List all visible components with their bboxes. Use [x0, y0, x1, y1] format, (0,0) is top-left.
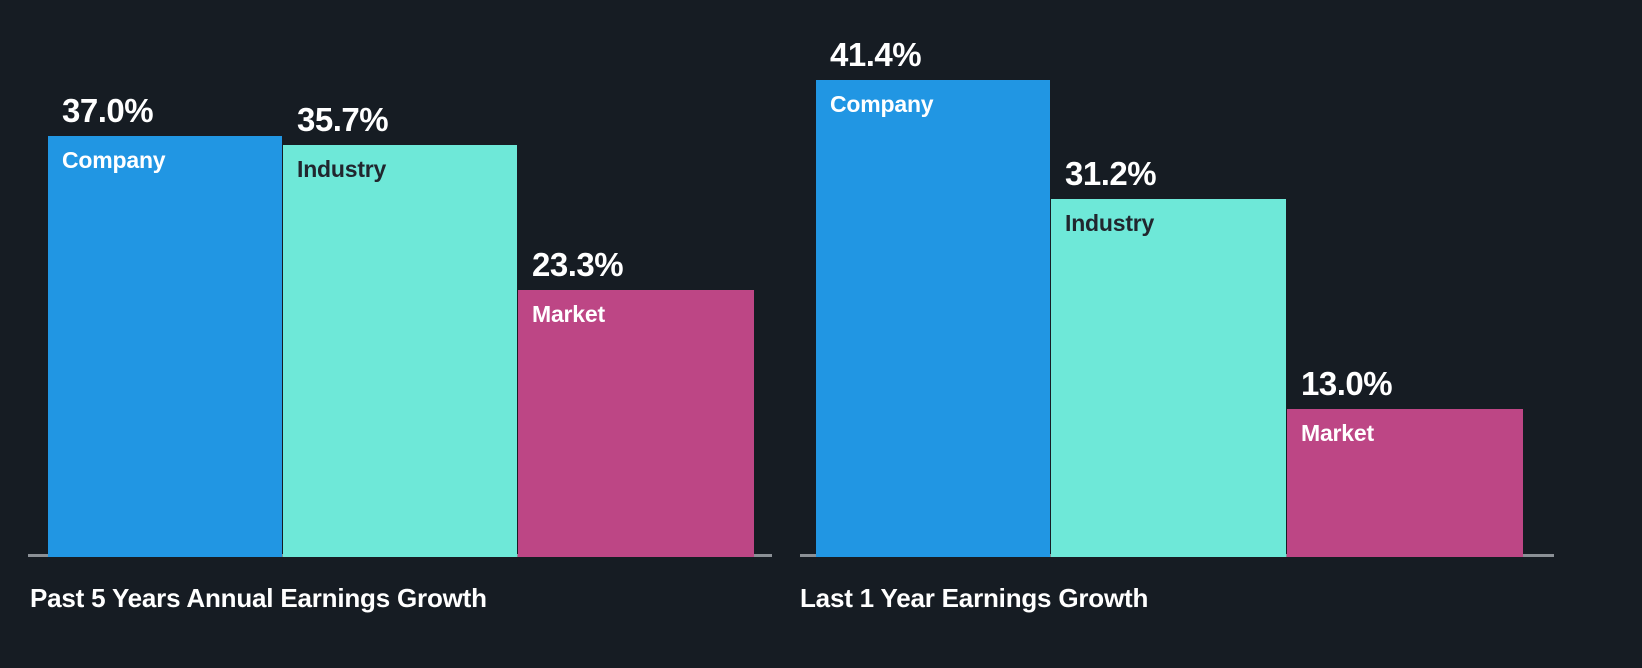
bar-category-label-industry: Industry: [297, 156, 386, 183]
chart-panel-past-5-years: 37.0% Company 35.7% Industry 23.3% Marke…: [0, 0, 790, 668]
bar-category-label-company: Company: [62, 147, 165, 174]
bar-category-label-market: Market: [532, 301, 605, 328]
bar-fill-industry: [283, 145, 517, 557]
bar-category-label-industry: Industry: [1065, 210, 1154, 237]
bar-industry-past-5-years[interactable]: 35.7% Industry: [283, 145, 517, 557]
plot-area-past-5-years: 37.0% Company 35.7% Industry 23.3% Marke…: [0, 0, 790, 557]
bar-value-label-industry: 31.2%: [1065, 155, 1156, 193]
bar-fill-industry: [1051, 199, 1286, 557]
bar-fill-company: [816, 80, 1050, 557]
plot-area-last-1-year: 41.4% Company 31.2% Industry 13.0% Marke…: [790, 0, 1642, 557]
bar-company-past-5-years[interactable]: 37.0% Company: [48, 136, 282, 557]
bar-value-label-company: 37.0%: [62, 92, 153, 130]
bar-industry-last-1-year[interactable]: 31.2% Industry: [1051, 199, 1286, 557]
bar-fill-company: [48, 136, 282, 557]
bar-fill-market: [518, 290, 754, 557]
chart-title-past-5-years: Past 5 Years Annual Earnings Growth: [30, 583, 487, 614]
bar-value-label-market: 23.3%: [532, 246, 623, 284]
chart-panel-last-1-year: 41.4% Company 31.2% Industry 13.0% Marke…: [790, 0, 1642, 668]
bar-value-label-industry: 35.7%: [297, 101, 388, 139]
bar-market-past-5-years[interactable]: 23.3% Market: [518, 290, 754, 557]
bar-value-label-company: 41.4%: [830, 36, 921, 74]
bar-market-last-1-year[interactable]: 13.0% Market: [1287, 409, 1523, 557]
bar-company-last-1-year[interactable]: 41.4% Company: [816, 80, 1050, 557]
bar-category-label-company: Company: [830, 91, 933, 118]
chart-title-last-1-year: Last 1 Year Earnings Growth: [800, 583, 1148, 614]
earnings-growth-comparison-figure: 37.0% Company 35.7% Industry 23.3% Marke…: [0, 0, 1642, 668]
bar-category-label-market: Market: [1301, 420, 1374, 447]
bar-value-label-market: 13.0%: [1301, 365, 1392, 403]
